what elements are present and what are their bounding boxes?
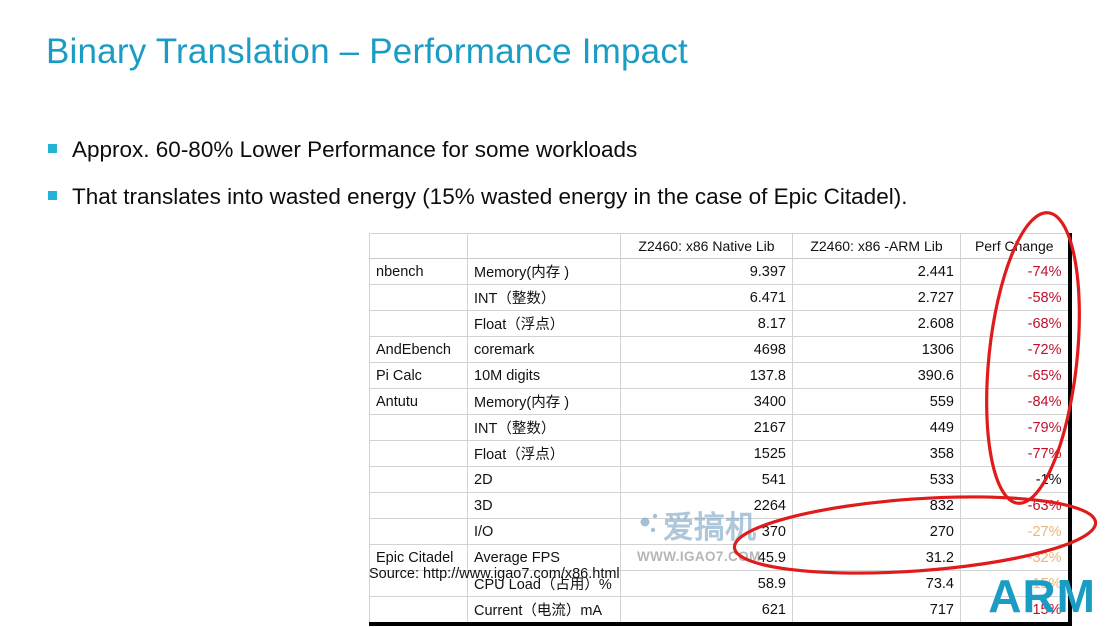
cell-arm: 533 — [793, 467, 961, 493]
cell-arm: 449 — [793, 415, 961, 441]
bullet-square-icon — [48, 191, 57, 200]
cell-benchmark: AndEbench — [370, 337, 468, 363]
table-row: Float（浮点）1525358-77% — [370, 441, 1070, 467]
cell-perf-change: -79% — [961, 415, 1070, 441]
cell-benchmark — [370, 311, 468, 337]
bullet-item: Approx. 60-80% Lower Performance for som… — [48, 137, 637, 163]
cell-metric: Float（浮点） — [468, 311, 621, 337]
cell-perf-change: -77% — [961, 441, 1070, 467]
column-header-metric — [468, 234, 621, 259]
bullet-text: Approx. 60-80% Lower Performance for som… — [72, 137, 637, 163]
cell-benchmark — [370, 441, 468, 467]
cell-perf-change: -58% — [961, 285, 1070, 311]
cell-native: 370 — [621, 519, 793, 545]
table-row: Current（电流）mA62171715% — [370, 597, 1070, 625]
cell-native: 45.9 — [621, 545, 793, 571]
cell-arm: 1306 — [793, 337, 961, 363]
cell-metric: coremark — [468, 337, 621, 363]
cell-arm: 832 — [793, 493, 961, 519]
bullet-square-icon — [48, 144, 57, 153]
bullet-text: That translates into wasted energy (15% … — [72, 184, 907, 210]
cell-native: 58.9 — [621, 571, 793, 597]
cell-perf-change: -65% — [961, 363, 1070, 389]
cell-benchmark — [370, 597, 468, 625]
table-row: I/O370270-27% — [370, 519, 1070, 545]
cell-perf-change: -84% — [961, 389, 1070, 415]
table-row: AntutuMemory(内存 )3400559-84% — [370, 389, 1070, 415]
cell-perf-change: -74% — [961, 259, 1070, 285]
cell-perf-change: -32% — [961, 545, 1070, 571]
cell-perf-change: -68% — [961, 311, 1070, 337]
column-header-arm-lib: Z2460: x86 -ARM Lib — [793, 234, 961, 259]
table-header-row: Z2460: x86 Native Lib Z2460: x86 -ARM Li… — [370, 234, 1070, 259]
cell-arm: 358 — [793, 441, 961, 467]
cell-metric: Current（电流）mA — [468, 597, 621, 625]
cell-benchmark — [370, 493, 468, 519]
cell-benchmark — [370, 467, 468, 493]
cell-metric: I/O — [468, 519, 621, 545]
cell-native: 1525 — [621, 441, 793, 467]
cell-perf-change: -63% — [961, 493, 1070, 519]
cell-arm: 559 — [793, 389, 961, 415]
column-header-perf-change: Perf Change — [961, 234, 1070, 259]
cell-metric: 3D — [468, 493, 621, 519]
bullet-item: That translates into wasted energy (15% … — [48, 184, 907, 210]
cell-perf-change: -27% — [961, 519, 1070, 545]
cell-metric: INT（整数） — [468, 285, 621, 311]
cell-native: 4698 — [621, 337, 793, 363]
page-title: Binary Translation – Performance Impact — [46, 32, 688, 72]
cell-native: 8.17 — [621, 311, 793, 337]
cell-arm: 270 — [793, 519, 961, 545]
cell-native: 9.397 — [621, 259, 793, 285]
cell-native: 2264 — [621, 493, 793, 519]
cell-benchmark — [370, 415, 468, 441]
cell-metric: INT（整数） — [468, 415, 621, 441]
cell-arm: 390.6 — [793, 363, 961, 389]
cell-benchmark — [370, 519, 468, 545]
cell-native: 541 — [621, 467, 793, 493]
cell-native: 621 — [621, 597, 793, 625]
cell-metric: 10M digits — [468, 363, 621, 389]
cell-native: 2167 — [621, 415, 793, 441]
column-header-native-lib: Z2460: x86 Native Lib — [621, 234, 793, 259]
cell-arm: 31.2 — [793, 545, 961, 571]
table-row: AndEbenchcoremark46981306-72% — [370, 337, 1070, 363]
cell-arm: 73.4 — [793, 571, 961, 597]
cell-arm: 717 — [793, 597, 961, 625]
cell-native: 6.471 — [621, 285, 793, 311]
cell-native: 137.8 — [621, 363, 793, 389]
table-row: INT（整数）6.4712.727-58% — [370, 285, 1070, 311]
cell-arm: 2.608 — [793, 311, 961, 337]
table-row: Pi Calc10M digits137.8390.6-65% — [370, 363, 1070, 389]
cell-metric: Memory(内存 ) — [468, 259, 621, 285]
arm-logo: ARM — [988, 573, 1096, 619]
cell-metric: 2D — [468, 467, 621, 493]
cell-benchmark: nbench — [370, 259, 468, 285]
cell-metric: Float（浮点） — [468, 441, 621, 467]
column-header-benchmark — [370, 234, 468, 259]
cell-perf-change: -72% — [961, 337, 1070, 363]
cell-metric: Memory(内存 ) — [468, 389, 621, 415]
source-note: Source: http://www.igao7.com/x86.html — [369, 566, 620, 582]
table-row: 3D2264832-63% — [370, 493, 1070, 519]
table-row: INT（整数）2167449-79% — [370, 415, 1070, 441]
table-row: 2D541533-1% — [370, 467, 1070, 493]
cell-arm: 2.727 — [793, 285, 961, 311]
cell-benchmark: Antutu — [370, 389, 468, 415]
table-row: Float（浮点）8.172.608-68% — [370, 311, 1070, 337]
cell-benchmark — [370, 285, 468, 311]
cell-arm: 2.441 — [793, 259, 961, 285]
cell-native: 3400 — [621, 389, 793, 415]
table-row: nbenchMemory(内存 )9.3972.441-74% — [370, 259, 1070, 285]
cell-benchmark: Pi Calc — [370, 363, 468, 389]
cell-perf-change: -1% — [961, 467, 1070, 493]
